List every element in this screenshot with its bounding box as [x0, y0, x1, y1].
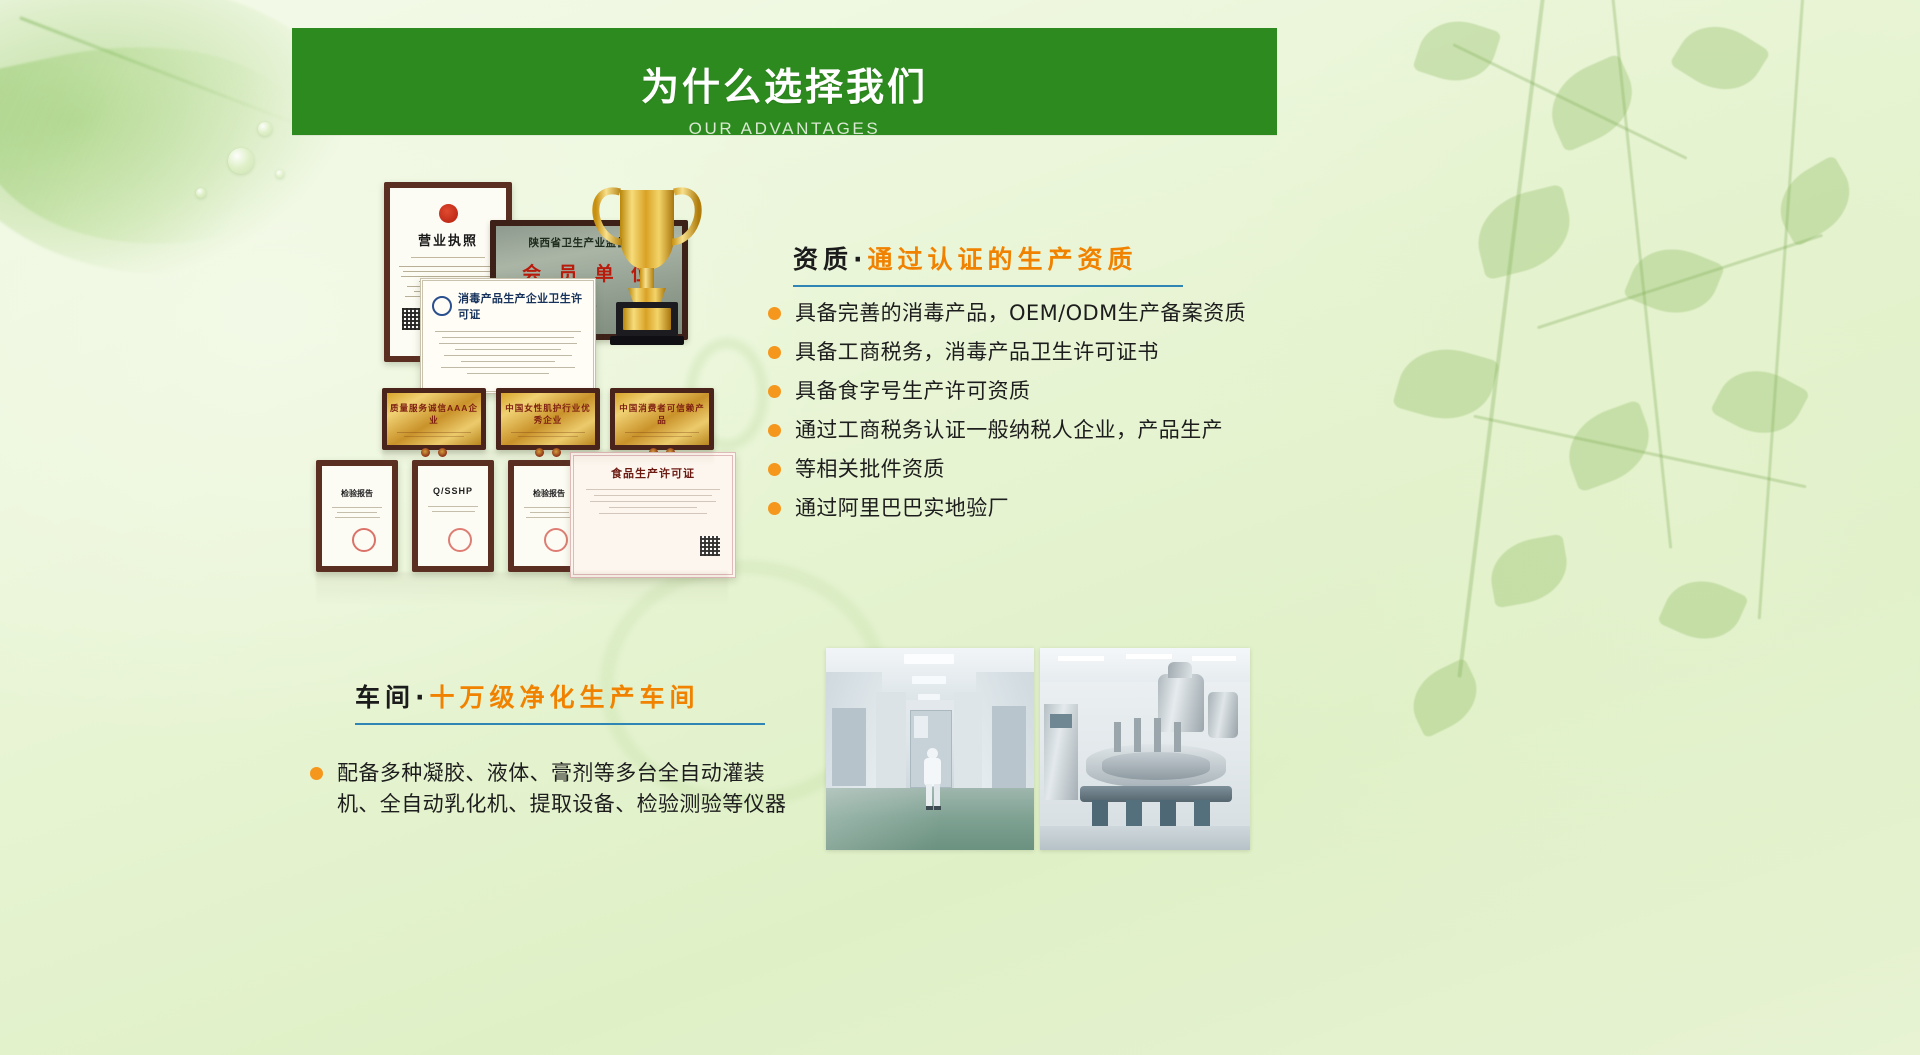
bullet-icon: [768, 463, 781, 476]
collage-reflection-plaques: [382, 450, 714, 466]
food-license-title: 食品生产许可证: [574, 465, 732, 481]
list-item-label: 等相关批件资质: [795, 454, 945, 485]
collage-reflection: [316, 572, 728, 606]
list-item: 通过工商税务认证一般纳税人企业，产品生产: [768, 415, 1278, 446]
qualification-heading-black: 资质·: [793, 245, 868, 274]
list-item: 具备工商税务，消毒产品卫生许可证书: [768, 337, 1278, 368]
section-banner: 为什么选择我们 OUR ADVANTAGES: [292, 28, 1277, 135]
workshop-heading: 车间·十万级净化生产车间: [355, 678, 700, 714]
certificate-inspection-report-1: 检验报告: [316, 460, 398, 572]
photo-cleanroom-corridor: [826, 648, 1034, 850]
qsship-title: Q/SSHP: [418, 486, 488, 496]
photo-production-equipment: [1040, 648, 1250, 850]
certificate-qsship: Q/SSHP: [412, 460, 494, 572]
workshop-rule: [355, 723, 765, 725]
hygiene-permit-title: 消毒产品生产企业卫生许可证: [458, 290, 593, 322]
certificate-food-production-license: 食品生产许可证: [570, 452, 736, 578]
banner-subtitle: OUR ADVANTAGES: [292, 120, 1277, 137]
plaque-women-skincare: 中国女性肌护行业优秀企业: [496, 388, 600, 450]
workshop-heading-orange: 十万级净化生产车间: [430, 683, 700, 712]
bullet-icon: [768, 385, 781, 398]
plaque-quality-aaa: 质量服务诚信AAA企业: [382, 388, 486, 450]
bullet-icon: [768, 307, 781, 320]
list-item: 具备食字号生产许可资质: [768, 376, 1278, 407]
certificate-collage: 营业执照 陕西省卫生产业监督协会 会 员 单 位 9年 消: [300, 160, 760, 600]
qualification-rule: [793, 285, 1183, 287]
list-item-label: 通过阿里巴巴实地验厂: [795, 493, 1009, 524]
list-item: 具备完善的消毒产品，OEM/ODM生产备案资质: [768, 298, 1278, 329]
workshop-heading-black: 车间·: [355, 683, 430, 712]
branch-watermark-right: [1380, 0, 1920, 960]
women-skincare-title: 中国女性肌护行业优秀企业: [501, 402, 595, 426]
workshop-bullet-list: 配备多种凝胶、液体、膏剂等多台全自动灌装机、全自动乳化机、提取设备、检验测验等仪…: [310, 758, 810, 828]
worker-figure: [920, 748, 944, 810]
quality-aaa-title: 质量服务诚信AAA企业: [387, 402, 481, 426]
inspection-report-1-title: 检验报告: [322, 488, 392, 499]
trusted-product-title: 中国消费者可信赖产品: [615, 402, 709, 426]
food-license-qr-icon: [700, 536, 720, 556]
trophy-icon: [582, 168, 712, 353]
banner-title: 为什么选择我们: [292, 68, 1277, 106]
plaque-trusted-product: 中国消费者可信赖产品: [610, 388, 714, 450]
certificate-hygiene-permit: 消毒产品生产企业卫生许可证: [420, 278, 596, 394]
list-item-label: 具备工商税务，消毒产品卫生许可证书: [795, 337, 1159, 368]
qualification-heading-orange: 通过认证的生产资质: [868, 245, 1138, 274]
list-item-label: 具备食字号生产许可资质: [795, 376, 1030, 407]
list-item-label: 配备多种凝胶、液体、膏剂等多台全自动灌装机、全自动乳化机、提取设备、检验测验等仪…: [337, 758, 807, 820]
qualification-heading: 资质·通过认证的生产资质: [793, 240, 1138, 276]
list-item: 等相关批件资质: [768, 454, 1278, 485]
list-item-label: 通过工商税务认证一般纳税人企业，产品生产: [795, 415, 1223, 446]
qualification-bullet-list: 具备完善的消毒产品，OEM/ODM生产备案资质 具备工商税务，消毒产品卫生许可证…: [768, 298, 1278, 532]
list-item: 通过阿里巴巴实地验厂: [768, 493, 1278, 524]
bullet-icon: [768, 424, 781, 437]
bullet-icon: [310, 767, 323, 780]
list-item-label: 具备完善的消毒产品，OEM/ODM生产备案资质: [795, 298, 1246, 329]
business-license-title: 营业执照: [390, 230, 506, 249]
list-item: 配备多种凝胶、液体、膏剂等多台全自动灌装机、全自动乳化机、提取设备、检验测验等仪…: [310, 758, 810, 820]
bullet-icon: [768, 346, 781, 359]
bullet-icon: [768, 502, 781, 515]
